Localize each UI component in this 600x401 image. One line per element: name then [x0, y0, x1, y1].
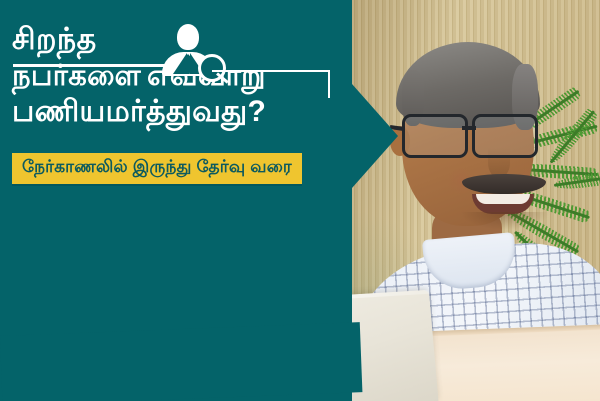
decorative-bracket-line	[212, 70, 330, 72]
eyeglasses-icon	[390, 114, 546, 154]
teeth	[476, 194, 530, 204]
glasses-lens	[472, 114, 538, 158]
teal-panel-bottom-extension	[0, 322, 362, 401]
headline-line-3: பணியமர்த்துவது?	[12, 94, 266, 131]
person-search-icon	[160, 24, 218, 74]
thumbnail-canvas: சிறந்த நபர்களை எவ்வாறு பணியமர்த்துவது? ந…	[0, 0, 600, 401]
subtitle-banner: நேர்காணலில் இருந்து தேர்வு வரை	[12, 153, 302, 184]
smiling-mouth	[472, 194, 534, 214]
headline-line-3-row: பணியமர்த்துவது?	[12, 94, 358, 131]
headline-underline	[13, 64, 179, 67]
glasses-bridge	[462, 126, 476, 130]
person-head-icon	[177, 24, 199, 50]
glasses-lens	[402, 114, 468, 158]
chin-shadow	[460, 212, 550, 230]
headline-line-1: சிறந்த	[12, 22, 97, 59]
decorative-bracket-corner	[328, 70, 330, 98]
